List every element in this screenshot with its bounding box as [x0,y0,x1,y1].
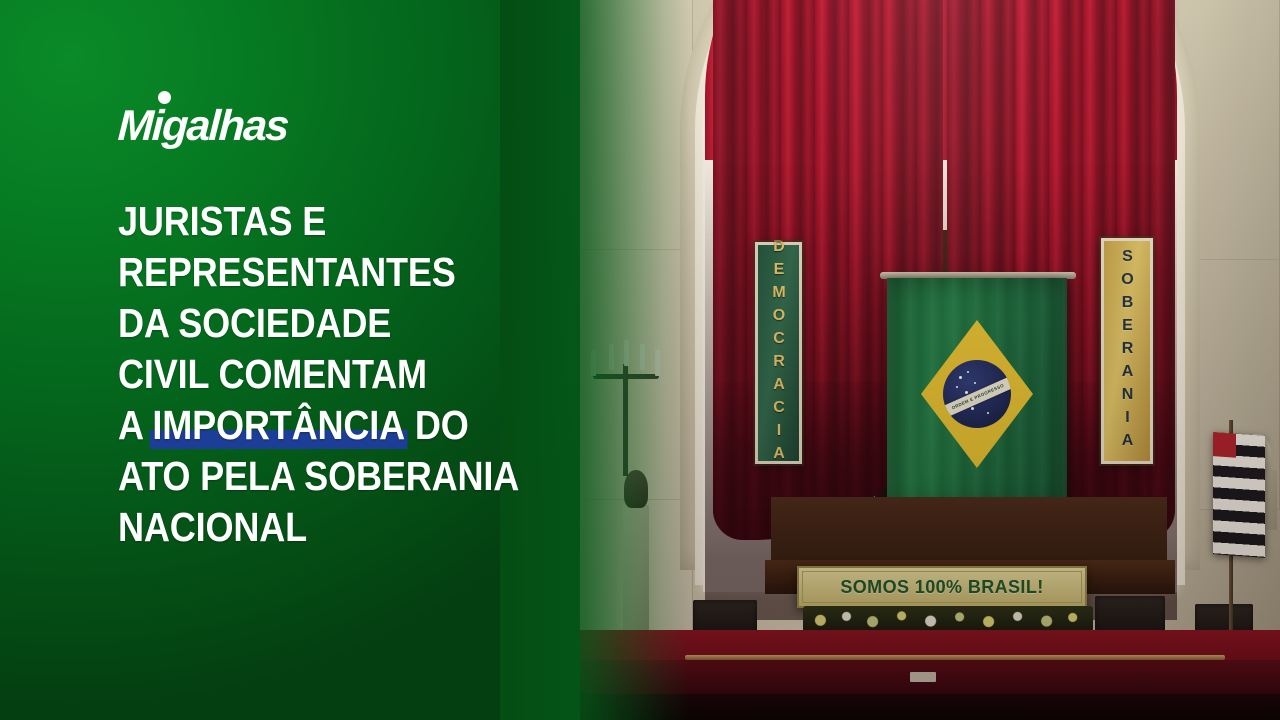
brazil-flag: ORDEM E PROGRESSO [887,278,1067,510]
migalhas-logo[interactable]: Migalhas [118,92,288,148]
banner-somos-brasil: SOMOS 100% BRASIL! [797,566,1087,608]
flag-motto-text: ORDEM E PROGRESSO [943,375,1011,419]
banner-soberania: SOBERANIA [1101,238,1153,464]
wall-panel [575,0,693,250]
sao-paulo-flag [1213,432,1265,558]
headline-line-4: CIVIL COMENTAM [118,349,505,400]
headline-suffix: DO [405,402,469,448]
social-card: ORDEM E PROGRESSO DEMOCRACIA SOBERANIA [0,0,1280,720]
headline-line-2: REPRESENTANTES [118,247,505,298]
headline: JURISTAS E REPRESENTANTES DA SOCIEDADE C… [118,196,558,553]
headline-line-1: JURISTAS E [118,196,505,247]
headline-line-7: NACIONAL [118,502,505,553]
foreground-floor [575,694,1280,720]
headline-line-6: ATO PELA SOBERANIA [118,451,505,502]
headline-line-5: A IMPORTÂNCIA DO [118,400,505,451]
flag-globe: ORDEM E PROGRESSO [943,360,1011,428]
headline-line-3: DA SOCIEDADE [118,298,505,349]
banner-democracia: DEMOCRACIA [755,242,802,464]
banner-somos-brasil-text: SOMOS 100% BRASIL! [840,577,1043,598]
headline-prefix: A [118,402,152,448]
logo-wordmark: Migalhas [117,105,289,148]
banner-soberania-text: SOBERANIA [1118,248,1136,455]
candelabra [583,330,669,480]
floral-arrangement [803,606,1093,632]
sao-paulo-flag-canton [1213,432,1236,458]
bust-pedestal-left [623,505,649,633]
plenary-hall-photo: ORDEM E PROGRESSO DEMOCRACIA SOBERANIA [575,0,1280,720]
headline-highlighted-word: IMPORTÂNCIA [152,400,405,451]
banner-democracia-text: DEMOCRACIA [770,238,788,468]
flag-motto-band: ORDEM E PROGRESSO [943,375,1011,419]
step-plate [910,672,936,682]
